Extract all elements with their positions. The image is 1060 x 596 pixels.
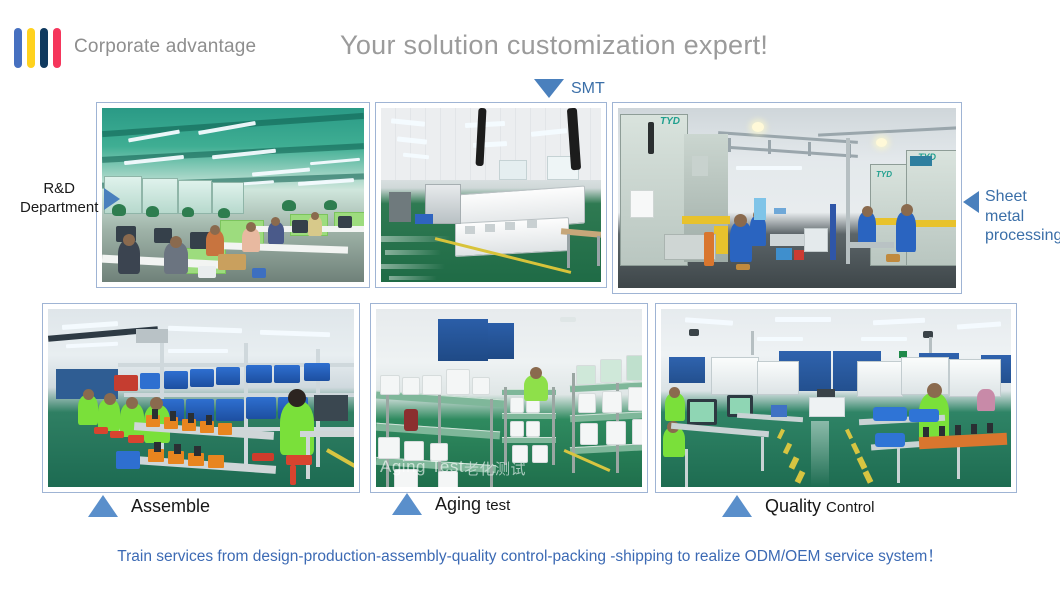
- aging-test-label: Aging test: [435, 494, 510, 515]
- aging-test-label-main: Aging: [435, 494, 481, 514]
- arrow-down-icon: [534, 79, 564, 98]
- rd-label-line2: Department: [20, 199, 98, 218]
- callout-quality-control: Quality Control: [722, 495, 874, 517]
- sheet-label-line3: processing: [985, 226, 1060, 246]
- callout-sheet-metal: Sheet metal processing: [963, 187, 1060, 246]
- quality-control-label-main: Quality: [765, 496, 821, 516]
- callout-assemble: Assemble: [88, 495, 210, 517]
- rd-label-line1: R&D: [20, 180, 98, 199]
- smt-label: SMT: [571, 80, 605, 98]
- photo-quality-control-area: [661, 309, 1011, 487]
- logo-bar-yellow: [27, 28, 35, 68]
- rd-department-label: R&D Department: [20, 180, 98, 218]
- photo-panel-quality-control: [655, 303, 1017, 493]
- photo-smt-reflow-line: [381, 108, 601, 282]
- photo-aging-test-room: Aging Test 老化测试: [376, 309, 642, 487]
- arrow-right-icon: [104, 188, 120, 210]
- sheet-label-line1: Sheet: [985, 187, 1060, 207]
- callout-smt: SMT: [534, 79, 605, 98]
- photo-panel-aging-test: Aging Test 老化测试: [370, 303, 648, 493]
- photo-panel-assemble: [42, 303, 360, 493]
- callout-aging-test: Aging test: [392, 493, 510, 515]
- assemble-label: Assemble: [131, 496, 210, 517]
- aging-test-watermark-cn: 老化测试: [464, 458, 526, 479]
- arrow-up-icon: [392, 493, 422, 515]
- quality-control-label: Quality Control: [765, 496, 874, 517]
- sheet-metal-label: Sheet metal processing: [985, 187, 1060, 246]
- photo-panel-smt: [375, 102, 607, 288]
- callout-rd-department: R&D Department: [20, 180, 120, 218]
- arrow-left-icon: [963, 191, 979, 213]
- photo-panel-sheet-metal: TYD TYD TYD: [612, 102, 962, 294]
- photo-rd-office: [102, 108, 364, 282]
- brand-logo: [14, 28, 66, 68]
- photo-sheet-metal-workshop: TYD TYD TYD: [618, 108, 956, 288]
- sheet-label-line2: metal: [985, 207, 1060, 227]
- footer-caption: Train services from design-production-as…: [0, 544, 1060, 566]
- photo-assembly-line: [48, 309, 354, 487]
- logo-bar-navy: [40, 28, 48, 68]
- brand-label: Corporate advantage: [74, 36, 256, 58]
- arrow-up-icon: [88, 495, 118, 517]
- page-headline: Your solution customization expert!: [340, 30, 768, 61]
- arrow-up-icon: [722, 495, 752, 517]
- logo-bar-blue: [14, 28, 22, 68]
- photo-panel-rd-department: [96, 102, 370, 288]
- aging-test-label-sub: test: [486, 497, 510, 514]
- logo-bar-red: [53, 28, 61, 68]
- quality-control-label-sub: Control: [826, 499, 874, 516]
- aging-test-watermark-en: Aging Test: [380, 457, 464, 477]
